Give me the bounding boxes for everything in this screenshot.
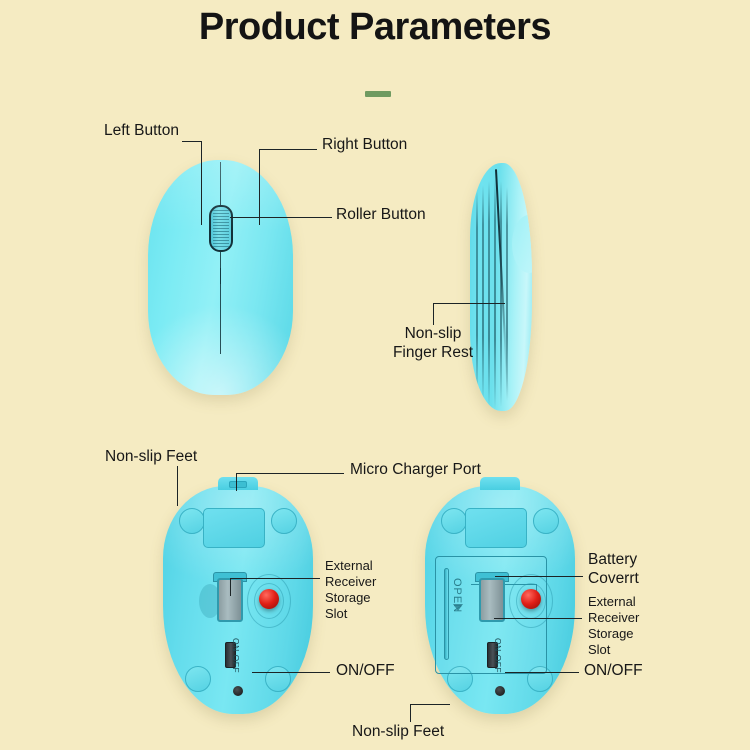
non-slip-foot-bottom-right <box>265 666 291 692</box>
callout-receiver-slot-left-line-h <box>230 578 320 579</box>
callout-nonslip-feet-left-line-v <box>177 466 178 506</box>
callout-right-button-line-h <box>259 149 317 150</box>
non-slip-foot-top-left-2 <box>441 508 467 534</box>
callout-left-button-line-v <box>201 141 202 225</box>
battery-cover-open-arrow <box>453 604 463 611</box>
screw-hole <box>233 686 243 696</box>
callout-on-off-left-line <box>252 672 330 673</box>
callout-receiver-slot-left-line2: Receiver <box>325 574 376 591</box>
callout-nonslip-feet-bottom-label: Non-slip Feet <box>352 723 444 742</box>
side-view-shell <box>470 163 532 411</box>
non-slip-foot-top-right-2 <box>533 508 559 534</box>
power-switch-text: ON OFF <box>231 638 241 673</box>
mouse-top-view-body <box>148 160 293 395</box>
callout-receiver-slot-left-line4: Slot <box>325 606 347 623</box>
mouse-bottom-left-body: ON OFF <box>163 486 313 714</box>
callout-receiver-slot-left-line1: External <box>325 558 373 575</box>
micro-charger-port <box>229 481 247 488</box>
external-receiver-storage-slot-2 <box>479 578 505 622</box>
title-divider <box>365 91 391 97</box>
callout-nonslip-feet-bottom-line-v <box>410 704 411 722</box>
callout-right-button-line-v <box>259 149 260 225</box>
non-slip-foot-top-right <box>271 508 297 534</box>
mouse-bottom-right-body: OPEN ON OFF <box>425 486 575 714</box>
screw-hole-2 <box>495 686 505 696</box>
callout-roller-button-label: Roller Button <box>336 206 426 225</box>
mouse-side-view-body <box>470 163 532 411</box>
mouse-nose-right <box>480 477 520 490</box>
callout-receiver-slot-right-line3: Storage <box>588 626 634 643</box>
product-label-panel-2 <box>465 508 527 548</box>
button-split-line-lower <box>220 268 222 354</box>
callout-battery-cover-line2: Coverrt <box>588 570 639 589</box>
page-title: Product Parameters <box>0 6 750 49</box>
callout-receiver-slot-right-line4: Slot <box>588 642 610 659</box>
callout-charger-port-label: Micro Charger Port <box>350 461 481 480</box>
callout-finger-rest-label-line1: Non-slip <box>385 325 481 344</box>
callout-finger-rest-line-v <box>433 303 434 325</box>
product-parameters-infographic: Product Parameters Left Button Right But… <box>0 0 750 750</box>
callout-on-off-left-label: ON/OFF <box>336 662 395 681</box>
optical-sensor-led-2 <box>521 589 541 609</box>
callout-on-off-right-label: ON/OFF <box>584 662 643 681</box>
callout-nonslip-feet-left-label: Non-slip Feet <box>105 448 197 467</box>
callout-roller-button-line <box>230 217 332 218</box>
callout-receiver-slot-right-line <box>494 618 582 619</box>
callout-charger-port-line-h <box>236 473 344 474</box>
callout-charger-port-line-v <box>236 473 237 491</box>
battery-cover-groove <box>444 568 449 660</box>
non-slip-foot-bottom-left <box>185 666 211 692</box>
callout-finger-rest-label-line2: Finger Rest <box>385 344 481 363</box>
callout-finger-rest-line-h <box>433 303 505 304</box>
callout-left-button-label: Left Button <box>104 122 179 141</box>
callout-on-off-right-line <box>505 672 579 673</box>
scroll-wheel <box>209 205 233 252</box>
callout-battery-cover-line1: Battery <box>588 551 637 570</box>
non-slip-foot-top-left <box>179 508 205 534</box>
finger-rest-ribs <box>474 173 516 405</box>
callout-receiver-slot-left-line3: Storage <box>325 590 371 607</box>
callout-nonslip-feet-bottom-line-h <box>410 704 450 705</box>
callout-battery-cover-line <box>495 576 583 577</box>
optical-sensor-led <box>259 589 279 609</box>
scroll-wheel-ridges <box>213 210 229 247</box>
product-label-panel <box>203 508 265 548</box>
callout-receiver-slot-right-line2: Receiver <box>588 610 639 627</box>
callout-left-button-line-h <box>182 141 202 142</box>
callout-right-button-label: Right Button <box>322 136 407 155</box>
callout-receiver-slot-left-line-v <box>230 578 231 596</box>
power-switch-text-2: ON OFF <box>493 638 503 673</box>
callout-receiver-slot-right-line1: External <box>588 594 636 611</box>
